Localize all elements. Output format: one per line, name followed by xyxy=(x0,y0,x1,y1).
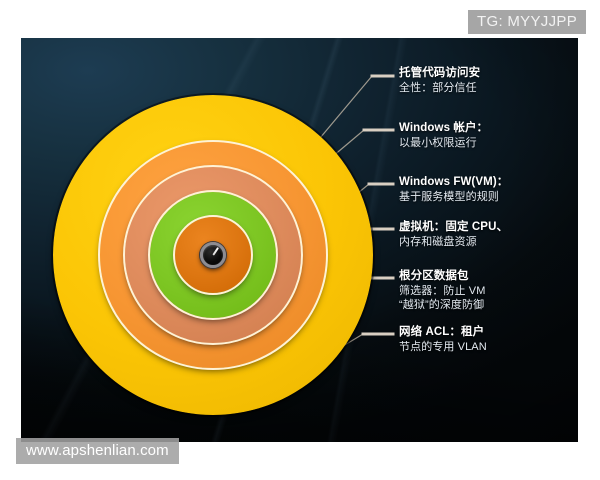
callout-root-partition-packet-filter-line3: “越狱”的深度防御 xyxy=(399,298,485,312)
callout-managed-code-access-security: 托管代码访问安全性：部分信任 xyxy=(399,66,480,95)
core-hub xyxy=(200,242,226,268)
callout-root-partition-packet-filter: 根分区数据包筛选器：防止 VM“越狱”的深度防御 xyxy=(399,269,485,312)
callout-managed-code-access-security-line1: 托管代码访问安 xyxy=(399,66,480,81)
callout-managed-code-access-security-line2: 全性：部分信任 xyxy=(399,81,480,95)
callout-root-partition-packet-filter-line2: 筛选器：防止 VM xyxy=(399,284,485,298)
callout-virtual-machine: 虚拟机：固定 CPU、内存和磁盘资源 xyxy=(399,220,508,249)
callout-network-acl-line2: 节点的专用 VLAN xyxy=(399,340,487,354)
callout-windows-firewall-vm-line2: 基于服务模型的规则 xyxy=(399,190,508,204)
callout-windows-account-line2: 以最小权限运行 xyxy=(399,136,488,150)
tg-badge: TG: MYYJJPP xyxy=(468,10,586,34)
watermark-apshenlian: www.apshenlian.com xyxy=(16,438,179,464)
callout-windows-firewall-vm: Windows FW(VM)：基于服务模型的规则 xyxy=(399,175,508,204)
callout-virtual-machine-line1: 虚拟机：固定 CPU、 xyxy=(399,220,508,235)
callout-windows-account-line1: Windows 帐户： xyxy=(399,121,488,136)
callout-network-acl-line1: 网络 ACL：租户 xyxy=(399,325,487,340)
callout-root-partition-packet-filter-line1: 根分区数据包 xyxy=(399,269,485,284)
callout-network-acl: 网络 ACL：租户节点的专用 VLAN xyxy=(399,325,487,354)
callout-virtual-machine-line2: 内存和磁盘资源 xyxy=(399,235,508,249)
callout-windows-account: Windows 帐户：以最小权限运行 xyxy=(399,121,488,150)
callout-windows-firewall-vm-line1: Windows FW(VM)： xyxy=(399,175,508,190)
hub-needle xyxy=(212,247,218,255)
